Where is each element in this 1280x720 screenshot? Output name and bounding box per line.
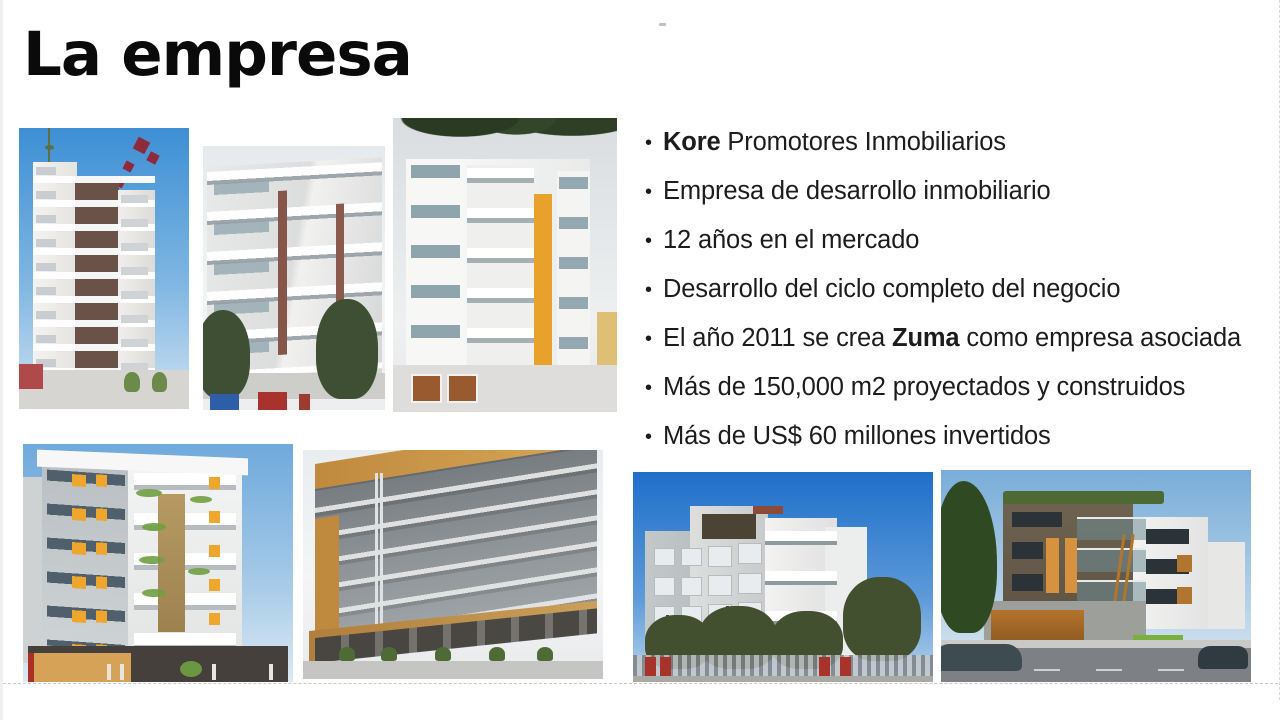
- bullet-text-3: 12 años en el mercado: [663, 226, 919, 254]
- list-item: • Más de US$ 60 millones invertidos: [639, 412, 1280, 461]
- slide-canvas: La empresa: [0, 0, 1280, 720]
- neighbor-wall: [1201, 542, 1244, 629]
- glass-balcony: [1077, 580, 1145, 603]
- accent-strip: [278, 190, 287, 354]
- orange-accent-panel: [209, 477, 220, 644]
- orange-accent-panel: [1046, 538, 1058, 593]
- figure-person: [269, 664, 273, 680]
- bullet-text-4: Desarrollo del ciclo completo del negoci…: [663, 275, 1120, 303]
- window-grid-left: [411, 165, 460, 388]
- car: [941, 644, 1022, 672]
- bullet-prefix: El año 2011 se crea: [663, 324, 892, 352]
- stray-artifact-mark: [659, 23, 666, 26]
- window: [654, 577, 675, 596]
- recessed-terrace: [702, 514, 756, 539]
- roof-planter-greenery: [1003, 491, 1164, 504]
- bullet-text-1: Kore Promotores Inmobiliarios: [663, 128, 1006, 156]
- bullet-text-5: El año 2011 se crea Zuma como empresa as…: [663, 324, 1241, 352]
- photo-building-5: [303, 450, 603, 679]
- figure-person: [212, 664, 216, 680]
- window: [708, 546, 732, 567]
- bullet-icon: •: [639, 133, 663, 153]
- list-item: • Kore Promotores Inmobiliarios: [639, 118, 1280, 167]
- blue-box: [210, 394, 239, 410]
- red-wall: [19, 364, 43, 389]
- bullet-list: • Kore Promotores Inmobiliarios • Empres…: [639, 118, 1280, 461]
- page-title: La empresa: [23, 24, 412, 85]
- garage-door: [411, 374, 442, 403]
- wood-louver: [1177, 555, 1193, 572]
- bullet-icon: •: [639, 182, 663, 202]
- planter-greenery: [188, 568, 210, 575]
- window: [681, 548, 702, 567]
- orange-accent-panel: [1065, 538, 1077, 593]
- window-band: [1012, 574, 1043, 591]
- red-box: [299, 394, 310, 410]
- photo-building-7: [941, 470, 1251, 682]
- shrub: [124, 372, 139, 392]
- bullet-icon: •: [639, 378, 663, 398]
- glass-balcony: [1077, 548, 1145, 571]
- planter-greenery: [139, 556, 165, 564]
- bullet-icon: •: [639, 329, 663, 349]
- photo-building-6: [633, 472, 933, 682]
- bullet-text-2: Empresa de desarrollo inmobiliario: [663, 177, 1051, 205]
- figure-person: [120, 664, 124, 680]
- list-item: • 12 años en el mercado: [639, 216, 1280, 265]
- bullet-icon: •: [639, 231, 663, 251]
- ground: [633, 676, 933, 682]
- bullet-emphasis: Zuma: [892, 324, 959, 352]
- window: [654, 548, 675, 567]
- window: [738, 573, 762, 594]
- red-box: [258, 392, 287, 410]
- window-grid-right: [559, 177, 588, 389]
- list-item: • Desarrollo del ciclo completo del nego…: [639, 265, 1280, 314]
- window-band: [1012, 542, 1043, 559]
- photo-building-1: [19, 128, 189, 409]
- planter: [435, 647, 451, 661]
- glass-balcony: [1077, 517, 1145, 540]
- window-band: [1146, 529, 1189, 544]
- bullet-icon: •: [639, 280, 663, 300]
- window: [708, 575, 732, 596]
- wood-panel-column: [158, 494, 185, 632]
- list-item: • Más de 150,000 m2 proyectados y constr…: [639, 363, 1280, 412]
- photo-building-4: [23, 444, 293, 682]
- window-grid-right: [121, 195, 148, 392]
- tree-canopy: [393, 118, 617, 168]
- window-grid-left: [47, 469, 125, 651]
- bullet-icon: •: [639, 427, 663, 447]
- perimeter-fence: [633, 655, 933, 678]
- photo-building-3: [393, 118, 617, 412]
- garage-door: [447, 374, 478, 403]
- orange-accent-panel: [534, 194, 552, 365]
- roof-accent: [753, 506, 783, 514]
- planter: [537, 647, 553, 661]
- list-item: • El año 2011 se crea Zuma como empresa …: [639, 314, 1280, 363]
- sidewalk: [303, 661, 603, 679]
- planter: [489, 647, 505, 661]
- bullet-text-7: Más de US$ 60 millones invertidos: [663, 422, 1051, 450]
- figure-person: [107, 664, 111, 680]
- tree: [316, 299, 378, 399]
- shrub: [152, 372, 167, 392]
- window: [738, 543, 762, 564]
- shrub: [180, 661, 202, 677]
- wood-gate: [34, 653, 131, 682]
- window: [681, 577, 702, 596]
- window-band: [1012, 512, 1062, 527]
- bullet-emphasis: Kore: [663, 128, 721, 156]
- window-grid-left: [36, 167, 56, 392]
- lane-marking: [1096, 669, 1122, 671]
- lane-marking: [1034, 669, 1060, 671]
- bullet-rest: Promotores Inmobiliarios: [721, 128, 1006, 156]
- orange-side-band: [315, 515, 339, 647]
- orange-accent-panel: [72, 474, 86, 651]
- leaf: [45, 145, 54, 150]
- balcony-decks: [467, 168, 534, 391]
- lane-marking: [1158, 669, 1184, 671]
- bullet-suffix: como empresa asociada: [959, 324, 1241, 352]
- wood-louver: [1177, 587, 1193, 604]
- photo-building-2: [203, 146, 385, 410]
- tree: [843, 577, 921, 661]
- bullet-text-6: Más de 150,000 m2 proyectados y construi…: [663, 373, 1185, 401]
- slide-boundary-line: [3, 683, 1280, 684]
- list-item: • Empresa de desarrollo inmobiliario: [639, 167, 1280, 216]
- car: [1198, 646, 1248, 669]
- planter-greenery: [142, 523, 166, 531]
- planter: [339, 647, 355, 661]
- planter: [381, 647, 397, 661]
- orange-accent-panel: [96, 474, 107, 651]
- red-post: [28, 653, 33, 682]
